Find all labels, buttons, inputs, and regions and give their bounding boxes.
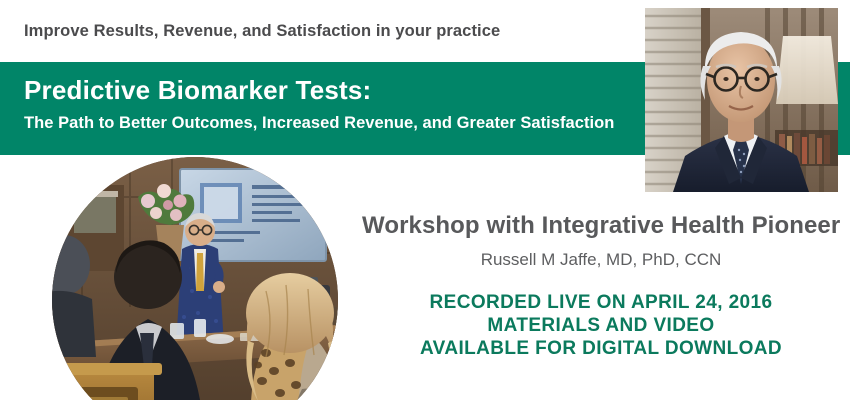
cta-line-recorded: RECORDED LIVE ON APRIL 24, 2016	[362, 291, 840, 314]
presenter-name: Russell M Jaffe, MD, PhD, CCN	[362, 250, 840, 270]
workshop-audience-photo	[52, 157, 338, 400]
cta-line-download: AVAILABLE FOR DIGITAL DOWNLOAD	[362, 337, 840, 360]
workshop-heading: Workshop with Integrative Health Pioneer	[362, 212, 840, 240]
page-tagline: Improve Results, Revenue, and Satisfacti…	[24, 22, 500, 41]
page-subtitle: The Path to Better Outcomes, Increased R…	[24, 114, 614, 133]
audience-image	[52, 157, 338, 400]
portrait-image	[645, 8, 838, 192]
speaker-portrait-photo	[645, 8, 838, 192]
cta-block: RECORDED LIVE ON APRIL 24, 2016 MATERIAL…	[362, 291, 840, 360]
page-title: Predictive Biomarker Tests:	[24, 75, 371, 106]
promo-banner: Improve Results, Revenue, and Satisfacti…	[0, 0, 850, 400]
cta-line-materials: MATERIALS AND VIDEO	[362, 314, 840, 337]
